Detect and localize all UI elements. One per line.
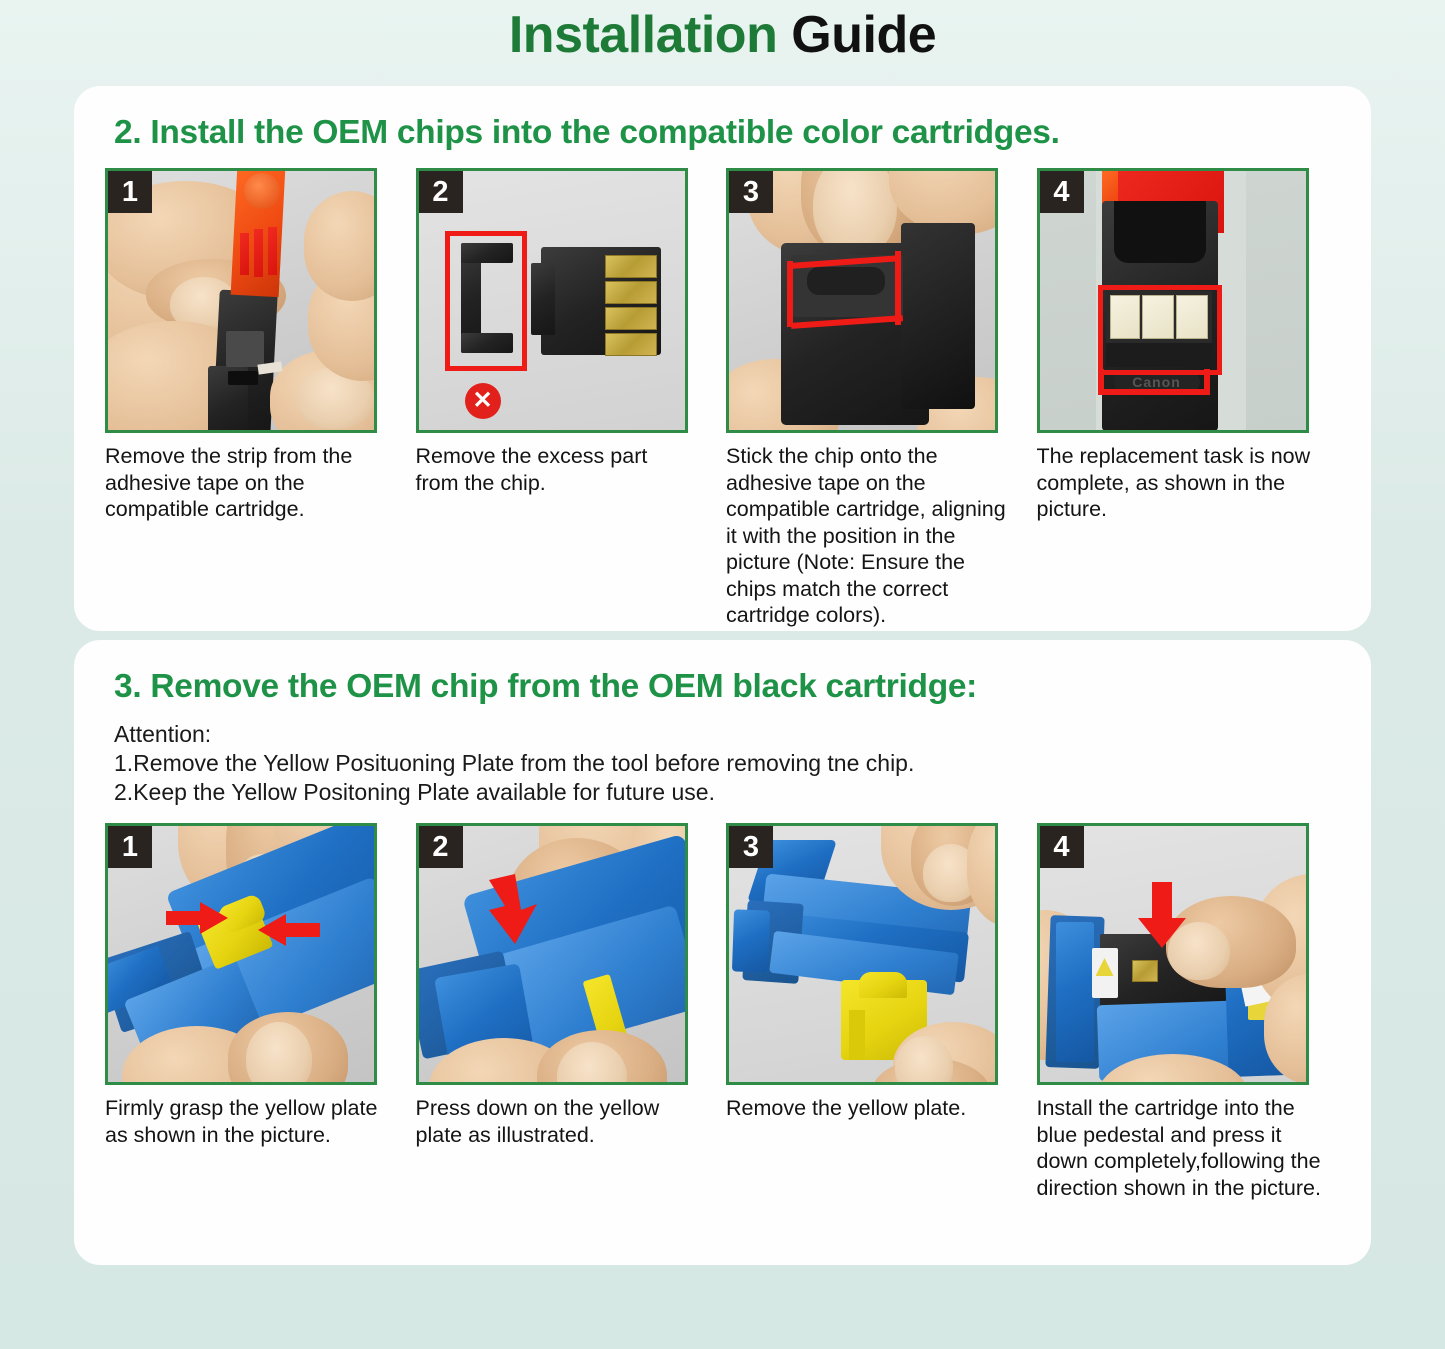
chip-contact [605, 333, 657, 356]
sticking-chip-onto-cartridge-photo: 3 [726, 168, 998, 433]
step-caption: The replacement task is now complete, as… [1037, 443, 1322, 523]
section-3-card: 3. Remove the OEM chip from the OEM blac… [74, 640, 1371, 1265]
step-badge: 2 [419, 171, 463, 213]
section-3-steps: 1 Firmly grasp the yellow plate as shown… [105, 823, 1345, 1201]
step-caption: Remove the strip from the adhesive tape … [105, 443, 385, 523]
chip-highlight-box [1098, 285, 1222, 375]
completed-cartridge-with-chip-photo: Canon 4 [1037, 168, 1309, 433]
step-caption: Remove the yellow plate. [726, 1095, 1006, 1122]
installation-guide-page: Installation Guide 2. Install the OEM ch… [0, 0, 1445, 1349]
page-title-green-part: Installation [509, 6, 777, 64]
yellow-plate-groove [849, 1010, 865, 1060]
step-badge: 4 [1040, 171, 1084, 213]
attention-line: 2.Keep the Yellow Positoning Plate avail… [114, 778, 1345, 807]
chip-highlight-box-extension [1098, 389, 1210, 395]
black-cartridge-side [901, 223, 975, 409]
chip-label [807, 267, 885, 295]
page-title-black-part: Guide [791, 6, 936, 64]
step-caption: Stick the chip onto the adhesive tape on… [726, 443, 1006, 629]
press-down-arrow-icon [1138, 882, 1186, 948]
step-badge: 1 [108, 826, 152, 868]
step-item: 1 Firmly grasp the yellow plate as shown… [105, 823, 414, 1201]
orange-tool-slot [240, 233, 249, 275]
section-2-heading: 2. Install the OEM chips into the compat… [114, 114, 1345, 152]
chip-contact [1132, 960, 1158, 982]
hands-removing-adhesive-strip-photo: 1 [105, 168, 377, 433]
x-mark-icon: ✕ [465, 383, 501, 419]
step-item: ✕ 2 Remove the excess part from the chip… [416, 168, 725, 629]
step-caption: Firmly grasp the yellow plate as shown i… [105, 1095, 385, 1148]
step-caption: Press down on the yellow plate as illust… [416, 1095, 696, 1148]
step-item: 4 Install the cartridge into the blue pe… [1037, 823, 1346, 1201]
grasping-yellow-plate-photo: 1 [105, 823, 377, 1085]
step-badge: 4 [1040, 826, 1084, 868]
step-badge: 3 [729, 171, 773, 213]
chip-contact [605, 281, 657, 304]
attention-block: Attention: 1.Remove the Yellow Posituoni… [114, 720, 1345, 807]
cartridge-slot [228, 371, 258, 385]
step-item: Canon 4 The replacement task is now comp… [1037, 168, 1346, 629]
page-title: Installation Guide [0, 0, 1445, 68]
step-badge: 3 [729, 826, 773, 868]
chip-tab [531, 263, 555, 335]
blue-tool-clip [732, 909, 770, 972]
step-item: 3 Stick the chip onto the adhesive tape … [726, 168, 1035, 629]
left-press-arrow-icon [166, 902, 228, 934]
excess-part-highlight-box [445, 231, 527, 371]
hand-shape [304, 191, 377, 301]
step-badge: 2 [419, 826, 463, 868]
chip-excess-part-photo: ✕ 2 [416, 168, 688, 433]
orange-tool-slot [268, 227, 277, 275]
section-3-heading: 3. Remove the OEM chip from the OEM blac… [114, 668, 1345, 706]
removing-yellow-plate-photo: 3 [726, 823, 998, 1085]
step-badge: 1 [108, 171, 152, 213]
alignment-highlight [895, 251, 901, 325]
yellow-plate-tab [859, 972, 907, 998]
step-item: 3 Remove the yellow plate. [726, 823, 1035, 1201]
blue-pedestal-upright-face [1056, 922, 1094, 1062]
step-caption: Remove the excess part from the chip. [416, 443, 696, 496]
cartridge-chip-area [226, 331, 264, 367]
chip-contact [605, 307, 657, 330]
alignment-highlight [787, 261, 793, 327]
orange-tool-knob [244, 173, 280, 209]
attention-line: 1.Remove the Yellow Posituoning Plate fr… [114, 749, 1345, 778]
orange-tool-slot [254, 229, 263, 277]
attention-label: Attention: [114, 720, 1345, 749]
section-2-steps: 1 Remove the strip from the adhesive tap… [105, 168, 1345, 629]
cartridge-shoulder [1114, 201, 1206, 263]
installing-cartridge-into-pedestal-photo: 4 [1037, 823, 1309, 1085]
chip-contact [605, 255, 657, 278]
pressing-yellow-plate-photo: 2 [416, 823, 688, 1085]
press-down-arrow-icon [485, 874, 543, 944]
chip-highlight-box-extension [1204, 369, 1210, 395]
step-item: 1 Remove the strip from the adhesive tap… [105, 168, 414, 629]
step-item: 2 Press down on the yellow plate as illu… [416, 823, 725, 1201]
step-caption: Install the cartridge into the blue pede… [1037, 1095, 1322, 1201]
section-2-card: 2. Install the OEM chips into the compat… [74, 86, 1371, 631]
right-press-arrow-icon [258, 914, 320, 946]
hand-shape [967, 823, 998, 926]
